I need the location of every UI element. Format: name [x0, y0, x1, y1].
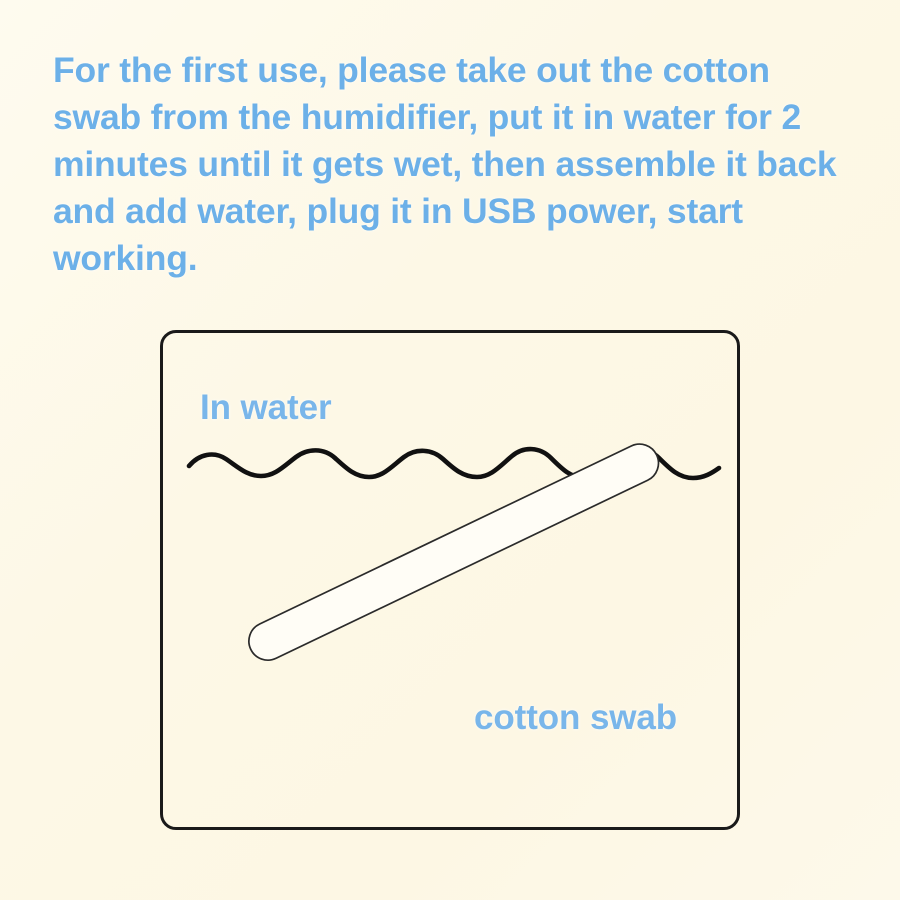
instruction-graphic-page: For the first use, please take out the c…	[0, 0, 900, 900]
illustration-canvas: In water cotton swab	[163, 333, 743, 833]
label-in-water: In water	[200, 388, 331, 428]
label-cotton-swab: cotton swab	[474, 698, 677, 738]
instruction-paragraph: For the first use, please take out the c…	[53, 47, 863, 282]
illustration-frame: In water cotton swab	[160, 330, 740, 830]
